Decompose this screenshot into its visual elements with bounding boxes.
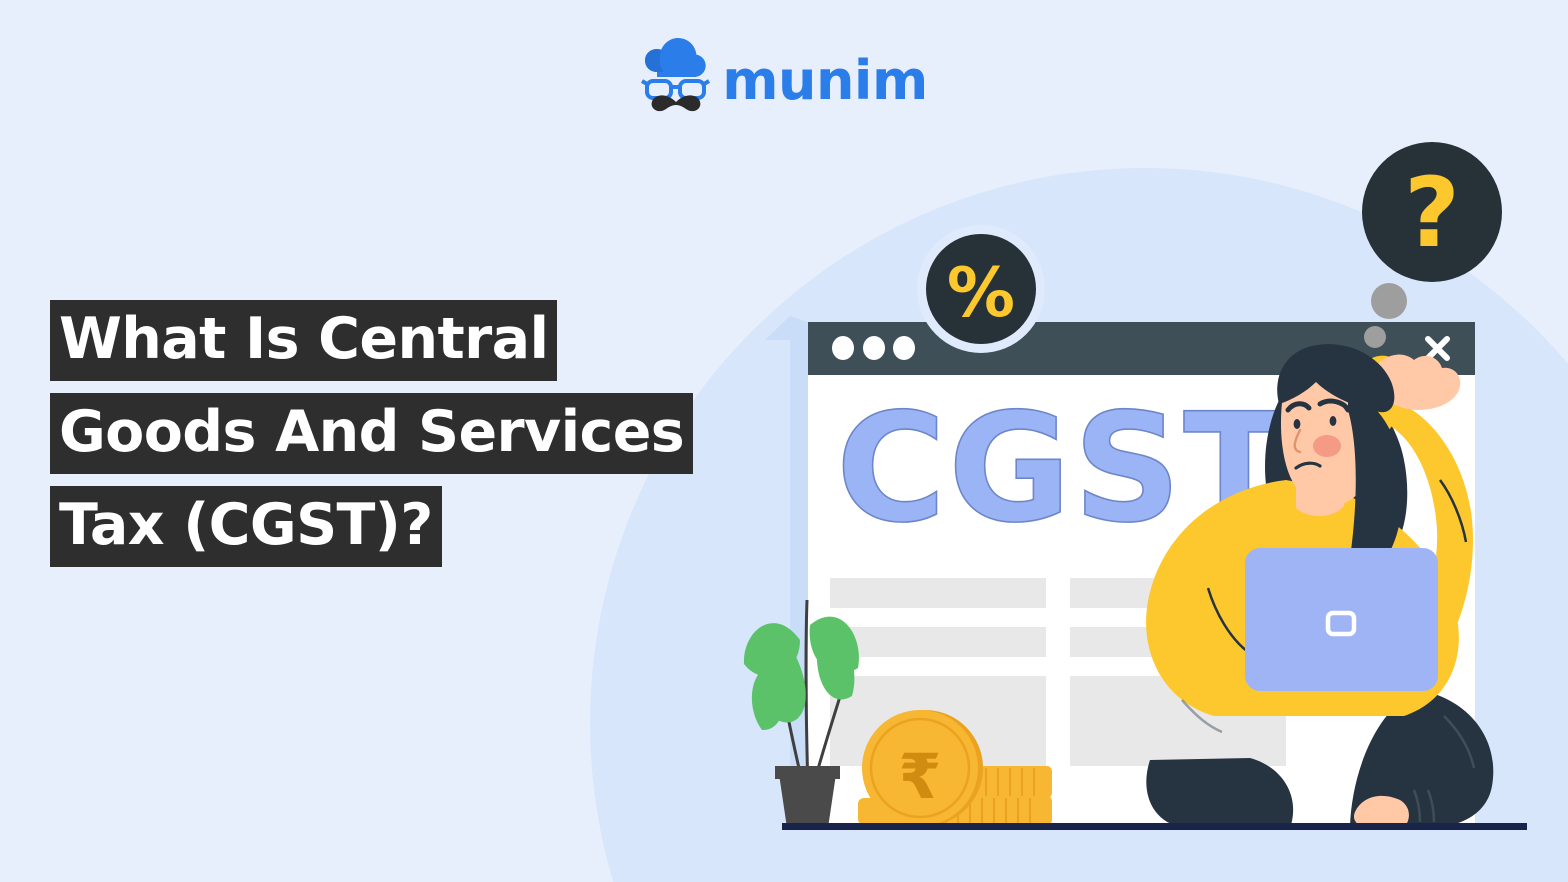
cheek-blush — [1313, 435, 1341, 457]
rupee-symbol: ₹ — [898, 740, 941, 813]
ground-line — [782, 823, 1527, 830]
placeholder-bar — [830, 627, 1046, 657]
window-dot-icon-1[interactable] — [832, 336, 854, 360]
percent-badge: % — [917, 225, 1045, 353]
thought-dot-large — [1371, 283, 1407, 319]
plant-pot-rim — [775, 766, 840, 779]
logo-wordmark: munim — [722, 54, 927, 108]
brand-logo[interactable]: munim — [0, 38, 1568, 124]
placeholder-bar — [830, 578, 1046, 608]
question-symbol: ? — [1404, 157, 1460, 269]
window-dot-icon-2[interactable] — [863, 336, 885, 360]
headline-line-2: Goods And Services — [50, 393, 693, 474]
plant-pot — [779, 774, 836, 828]
thought-dot-small — [1364, 326, 1386, 348]
headline-line-3: Tax (CGST)? — [50, 486, 442, 567]
percent-symbol: % — [947, 254, 1015, 333]
laptop-body[interactable] — [1245, 548, 1438, 691]
eye-left — [1294, 419, 1301, 429]
headline-line-1: What Is Central — [50, 300, 557, 381]
window-dot-icon-3[interactable] — [893, 336, 915, 360]
eye-right — [1330, 416, 1337, 426]
question-bubble: ? — [1362, 142, 1502, 348]
page-title: What Is Central Goods And Services Tax (… — [50, 300, 810, 579]
laptop[interactable] — [1245, 548, 1438, 691]
leg-left — [1146, 758, 1293, 828]
cloud-glasses-mustache-logo — [640, 38, 712, 124]
